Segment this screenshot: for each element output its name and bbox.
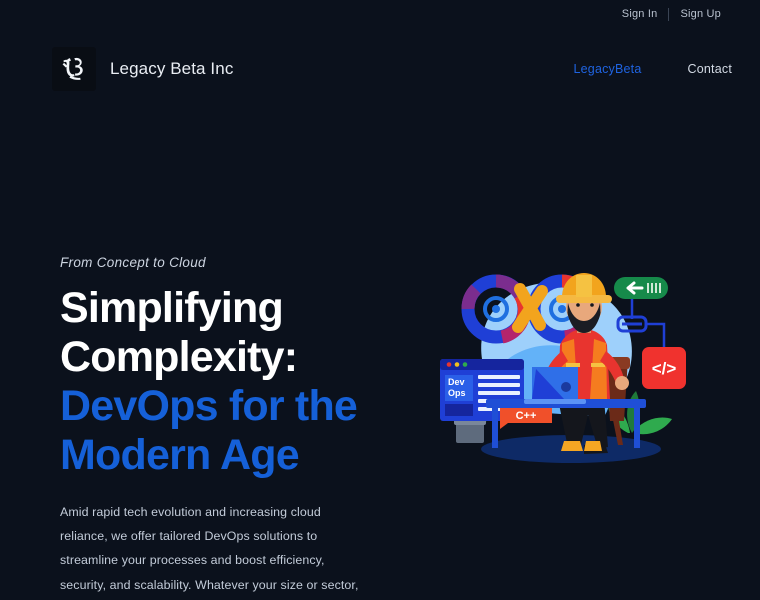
hero-eyebrow: From Concept to Cloud — [60, 255, 390, 270]
cpp-badge-label: C++ — [516, 410, 537, 422]
headline-line-1: Simplifying — [60, 284, 283, 332]
sign-up-link[interactable]: Sign Up — [669, 9, 732, 20]
nav-item-contact[interactable]: Contact — [688, 62, 732, 76]
hero-description: Amid rapid tech evolution and increasing… — [60, 500, 372, 600]
hero-illustration-wrap: </> Dev — [390, 263, 732, 483]
arrow-sign-icon — [614, 277, 668, 299]
legacy-beta-monogram-icon — [52, 47, 96, 91]
headline-accent-1: DevOps for the — [60, 382, 390, 431]
utility-bar: Sign In Sign Up — [0, 0, 760, 28]
devops-window-label: Dev — [448, 377, 465, 387]
laptop-icon — [524, 367, 586, 404]
nav-item-legacybeta[interactable]: LegacyBeta — [573, 62, 641, 76]
svg-text:Ops: Ops — [448, 388, 466, 398]
code-badge-label: </> — [652, 359, 677, 378]
brand-name: Legacy Beta Inc — [110, 59, 233, 79]
code-badge-icon: </> — [642, 347, 686, 389]
brand[interactable]: Legacy Beta Inc — [52, 47, 233, 91]
hero-copy: From Concept to Cloud Simplifying Comple… — [60, 255, 390, 600]
cpp-badge-icon: C++ — [500, 405, 552, 429]
devops-engineer-illustration: </> Dev — [436, 263, 686, 483]
hero-section: From Concept to Cloud Simplifying Comple… — [0, 255, 760, 600]
headline-line-2: Complexity: — [60, 333, 297, 381]
headline-accent-2: Modern Age — [60, 431, 390, 480]
sign-in-link[interactable]: Sign In — [611, 9, 669, 20]
page-title: Simplifying Complexity: DevOps for the M… — [60, 284, 390, 480]
site-header: Legacy Beta Inc LegacyBeta Contact — [0, 28, 760, 110]
main-nav: LegacyBeta Contact — [573, 62, 732, 76]
